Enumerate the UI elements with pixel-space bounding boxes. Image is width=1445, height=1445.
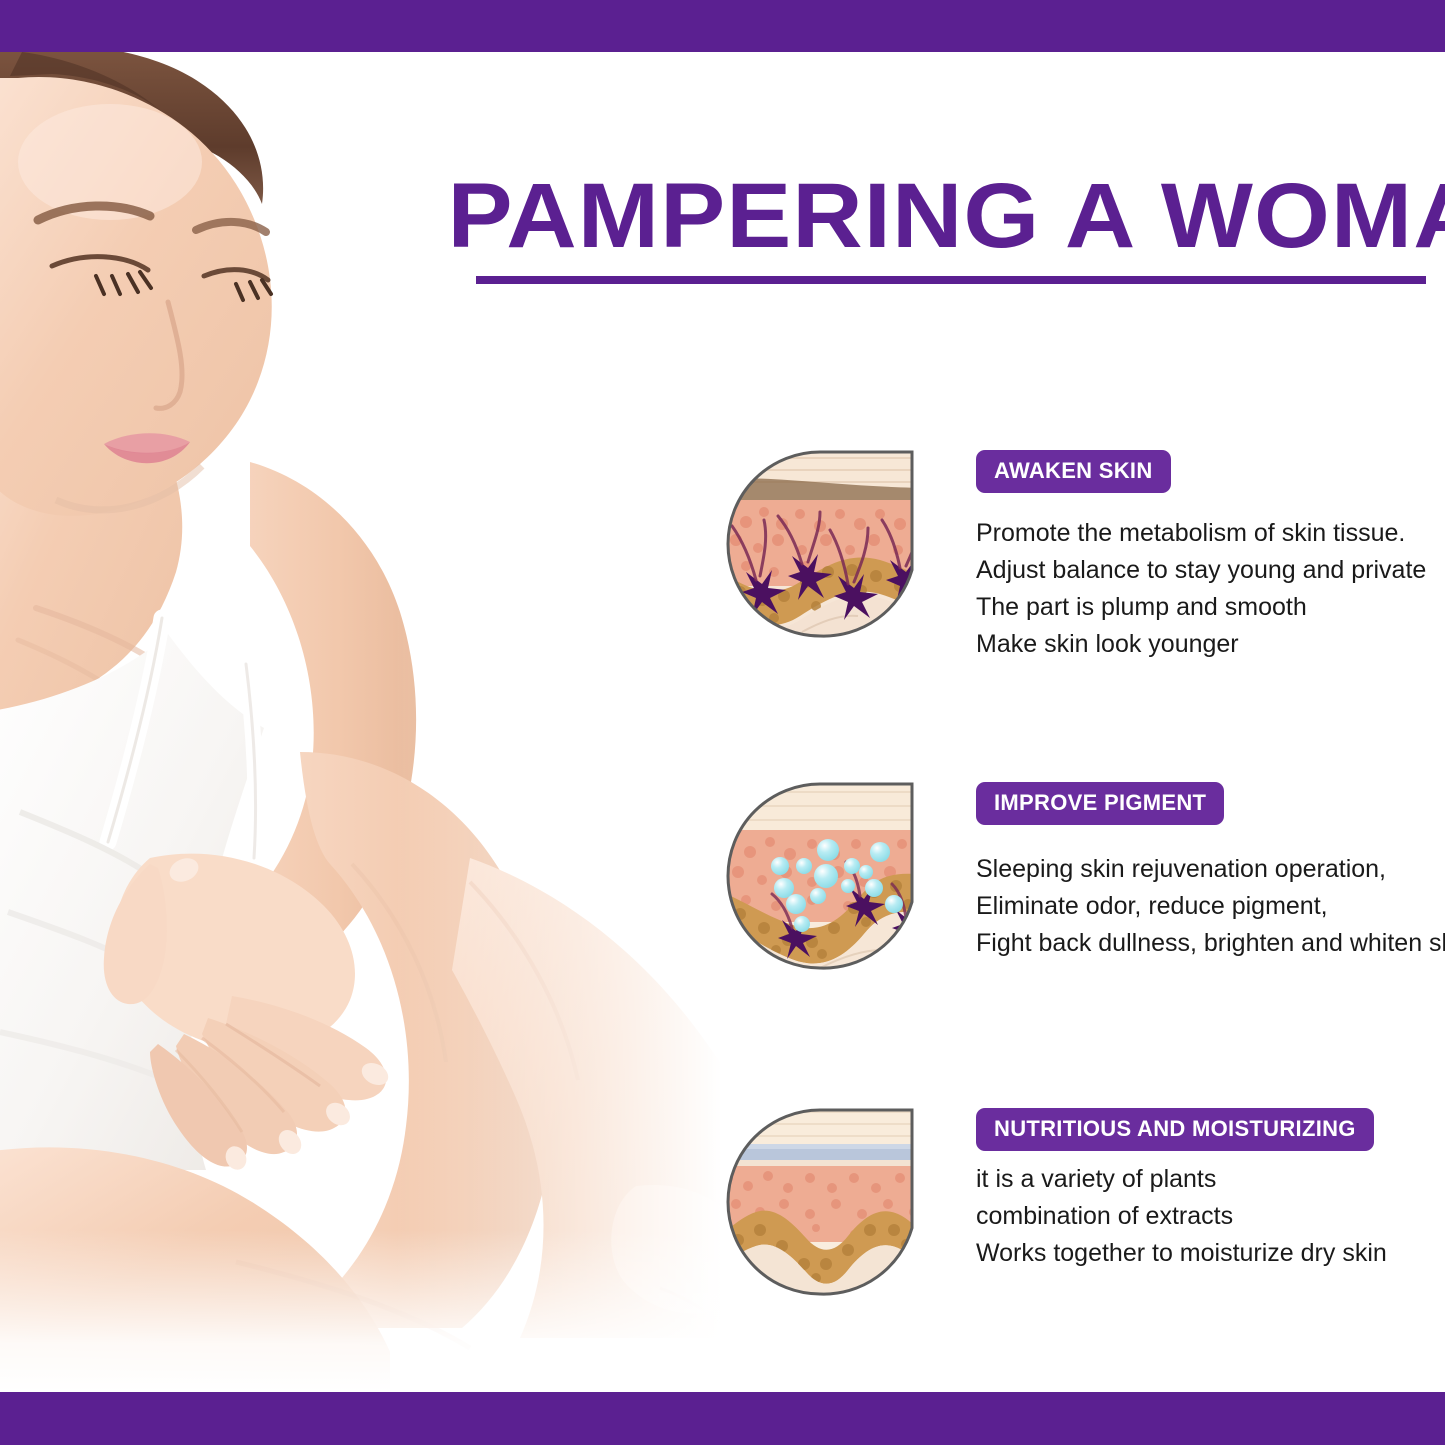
feature-nutritious-and-moisturizing: NUTRITIOUS AND MOISTURIZING it is a vari… — [716, 1098, 1387, 1306]
feature-badge-awaken-skin: AWAKEN SKIN — [976, 450, 1171, 493]
page-title: PAMPERING A WOMAN — [447, 168, 1445, 264]
feature-line: Works together to moisturize dry skin — [976, 1235, 1387, 1272]
feature-badge-nutritious-and-moisturizing: NUTRITIOUS AND MOISTURIZING — [976, 1108, 1374, 1151]
feature-text-block: NUTRITIOUS AND MOISTURIZING it is a vari… — [976, 1098, 1387, 1272]
feature-line: The part is plump and smooth — [976, 589, 1426, 626]
feature-improve-pigment: IMPROVE PIGMENT Sleeping skin rejuvenati… — [716, 772, 1445, 980]
top-purple-band — [0, 0, 1445, 52]
bottom-purple-band — [0, 1392, 1445, 1445]
feature-awaken-skin: AWAKEN SKIN Promote the metabolism of sk… — [716, 440, 1426, 663]
feature-lines: Promote the metabolism of skin tissue. A… — [976, 515, 1426, 663]
feature-lines: it is a variety of plants combination of… — [976, 1161, 1387, 1272]
feature-text-block: AWAKEN SKIN Promote the metabolism of sk… — [976, 440, 1426, 663]
title-underline — [476, 276, 1426, 284]
feature-lines: Sleeping skin rejuvenation operation, El… — [976, 851, 1445, 962]
feature-line: Fight back dullness, brighten and whiten… — [976, 925, 1445, 962]
skin-diagram-particles-icon — [716, 772, 924, 980]
feature-line: it is a variety of plants — [976, 1161, 1387, 1198]
skin-diagram-moisture-layer-icon — [716, 1098, 924, 1306]
feature-text-block: IMPROVE PIGMENT Sleeping skin rejuvenati… — [976, 772, 1445, 962]
feature-line: Sleeping skin rejuvenation operation, — [976, 851, 1445, 888]
feature-badge-improve-pigment: IMPROVE PIGMENT — [976, 782, 1224, 825]
page-title-block: PAMPERING A WOMAN — [476, 168, 1428, 284]
feature-line: Adjust balance to stay young and private — [976, 552, 1426, 589]
feature-line: Make skin look younger — [976, 626, 1426, 663]
feature-line: Promote the metabolism of skin tissue. — [976, 515, 1426, 552]
poster-root: PAMPERING A WOMAN — [0, 0, 1445, 1445]
feature-line: Eliminate odor, reduce pigment, — [976, 888, 1445, 925]
feature-line: combination of extracts — [976, 1198, 1387, 1235]
skin-diagram-melanocytes-icon — [716, 440, 924, 648]
